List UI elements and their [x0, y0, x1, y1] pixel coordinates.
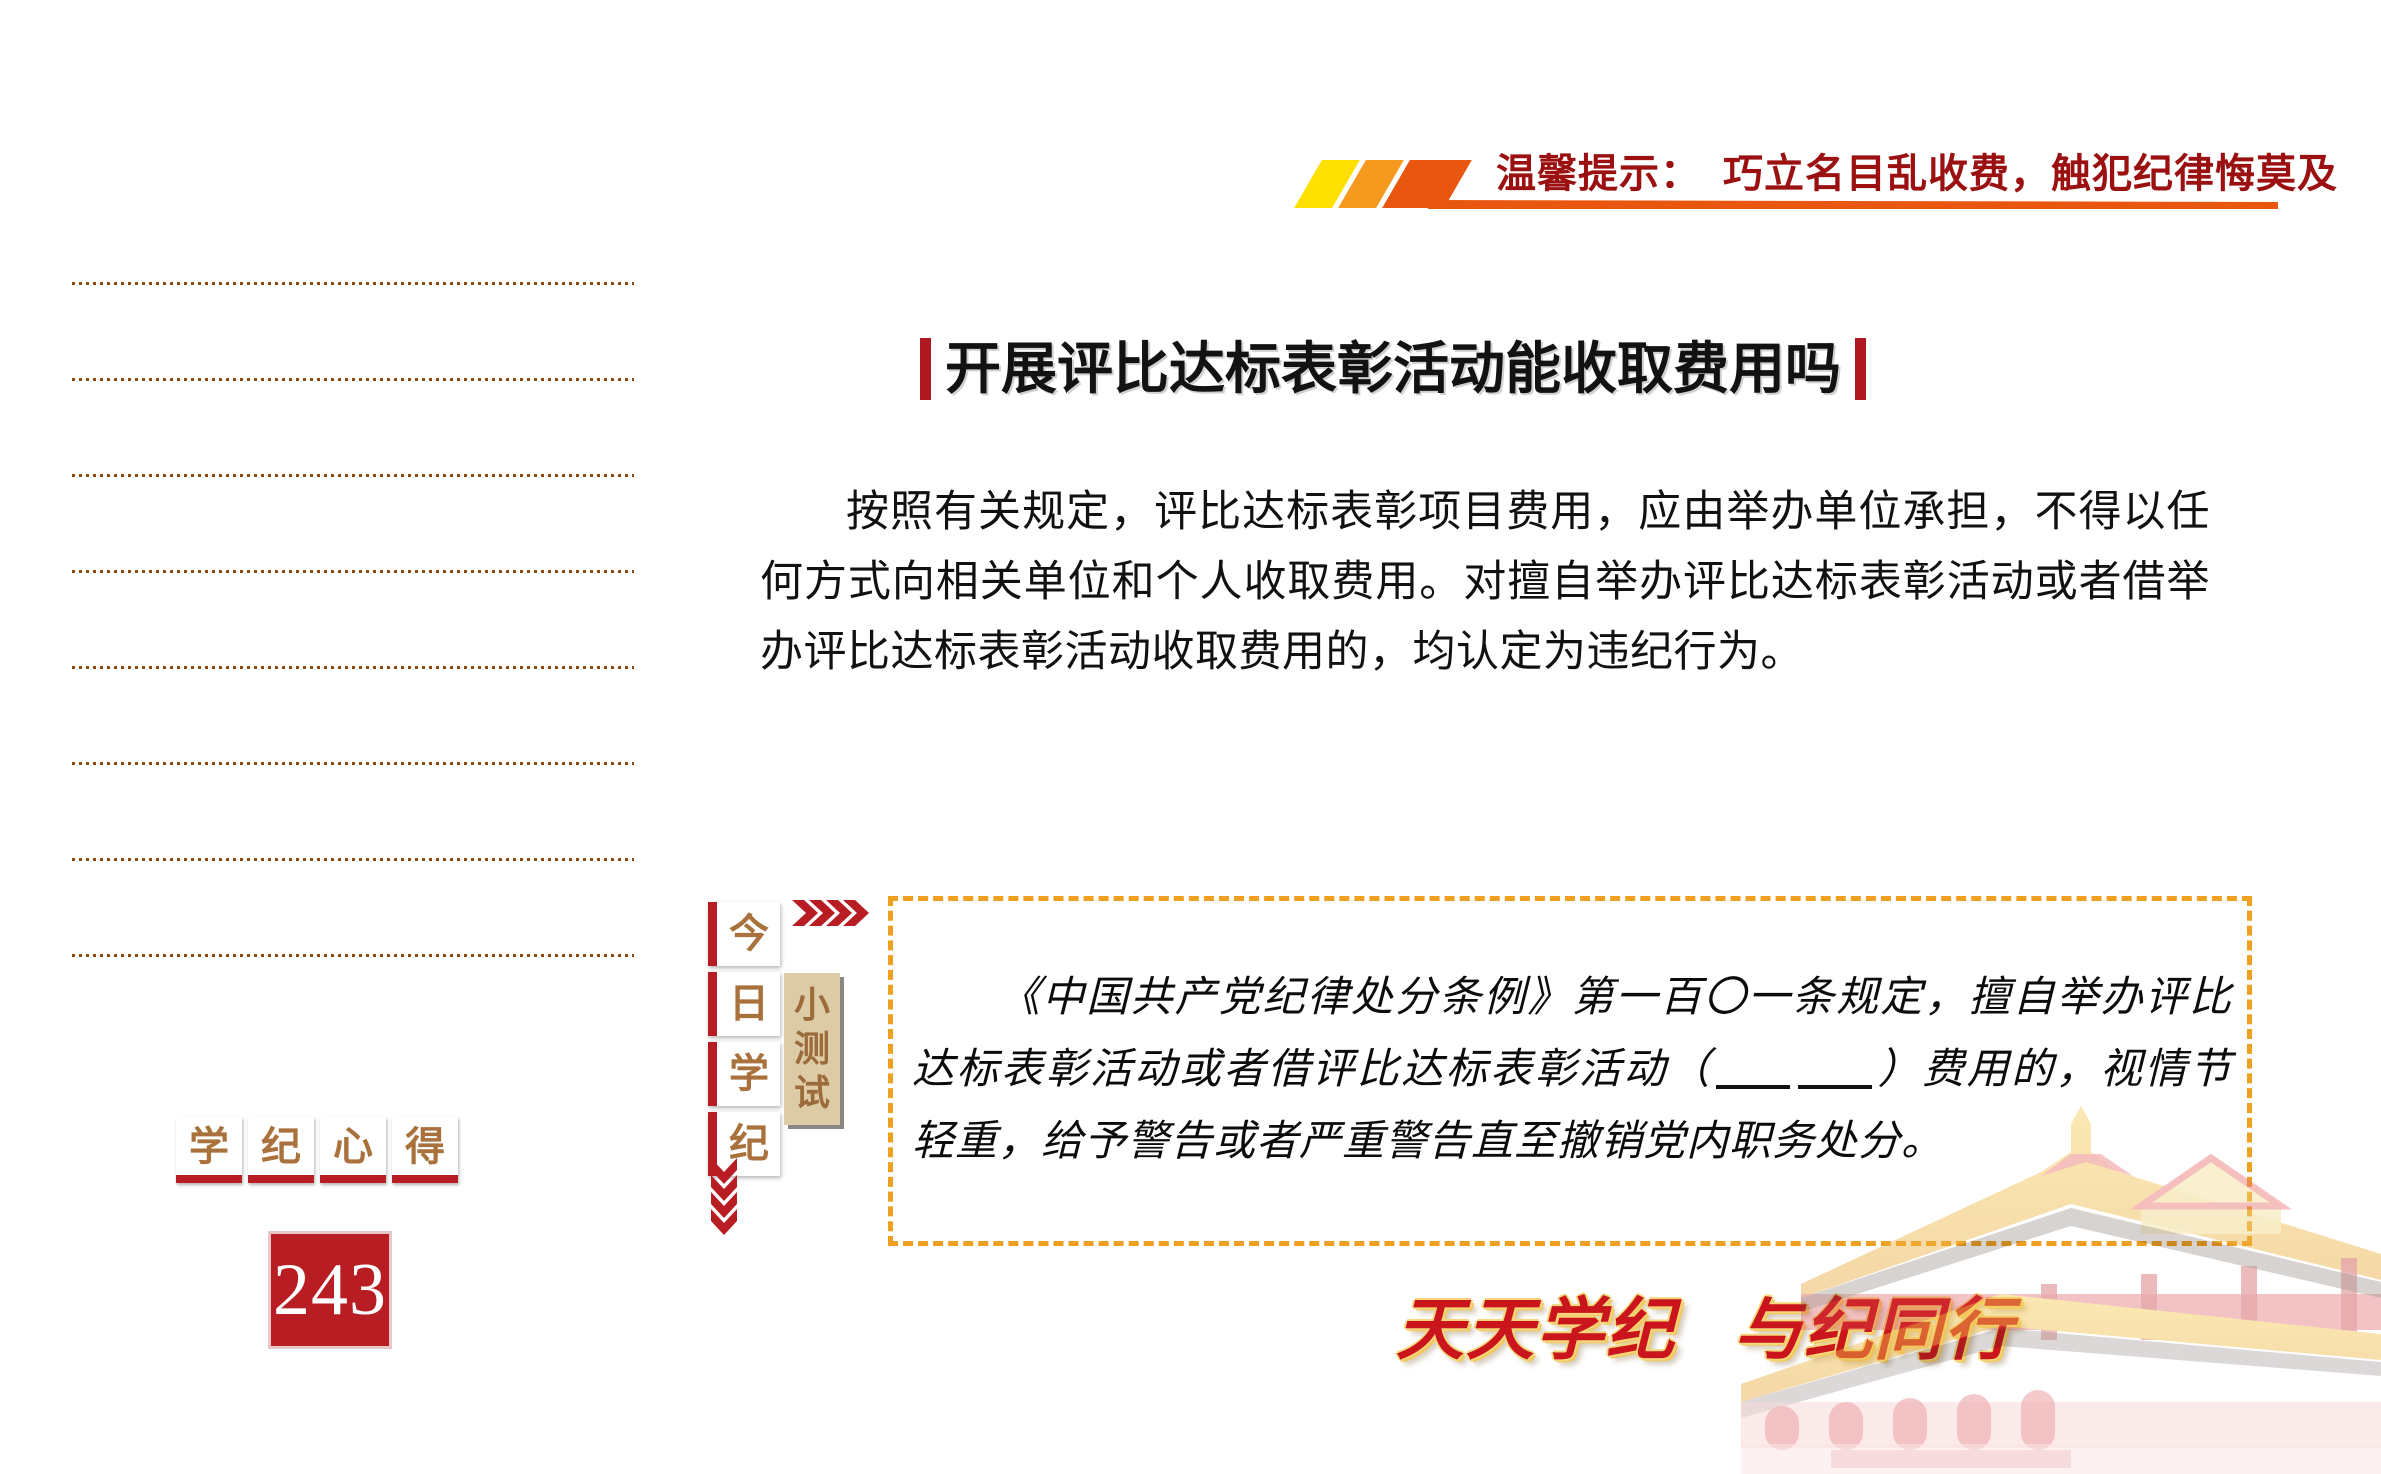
note-line [72, 474, 634, 477]
xueji-card-1: 纪 [248, 1117, 314, 1183]
page-title-text: 开展评比达标表彰活动能收取费用吗 [945, 341, 1841, 397]
slide-page: 温馨提示：巧立名目乱收费，触犯纪律悔莫及 开展评比达标表彰活动能收取费用吗 按照… [0, 0, 2381, 1474]
xueji-card-3: 得 [392, 1117, 458, 1183]
xueji-xinde-cards: 学 纪 心 得 [176, 1117, 458, 1183]
today-study-block: 今 日 学 纪 小 测 试 [700, 888, 880, 1208]
today-card-1: 日 [708, 972, 780, 1036]
today-card-2: 学 [708, 1042, 780, 1106]
quiz-tab-char-0: 小 [794, 983, 830, 1027]
today-card-0: 今 [708, 902, 780, 966]
chevron-down-icon [709, 1158, 739, 1236]
note-line [72, 282, 634, 285]
footer-slogan: 天天学纪与纪同行 [1396, 1296, 2014, 1364]
note-line [72, 378, 634, 381]
note-lines-area [72, 282, 634, 962]
tip-banner: 温馨提示：巧立名目乱收费，触犯纪律悔莫及 [1300, 148, 2310, 228]
xueji-card-0: 学 [176, 1117, 242, 1183]
footer-slogan-left: 天天学纪 [1396, 1292, 1676, 1368]
quiz-question-text: 《中国共产党纪律处分条例》第一百〇一条规定，擅自举办评比达标表彰活动或者借评比达… [912, 962, 2232, 1178]
tip-message: 巧立名目乱收费，触犯纪律悔莫及 [1723, 152, 2338, 196]
footer-slogan-right: 与纪同行 [1734, 1292, 2014, 1368]
note-line [72, 858, 634, 861]
page-number-badge: 243 [268, 1231, 392, 1349]
tip-text-line: 温馨提示：巧立名目乱收费，触犯纪律悔莫及 [1496, 148, 2338, 200]
note-line [72, 762, 634, 765]
note-line [72, 570, 634, 573]
page-title: 开展评比达标表彰活动能收取费用吗 [920, 338, 1866, 400]
title-bar-right-icon [1855, 338, 1866, 400]
quiz-blank-2[interactable] [1798, 1085, 1872, 1089]
xueji-card-2: 心 [320, 1117, 386, 1183]
quiz-tab-char-1: 测 [794, 1027, 830, 1071]
note-line [72, 954, 634, 957]
body-paragraph: 按照有关规定，评比达标表彰项目费用，应由举办单位承担，不得以任何方式向相关单位和… [760, 478, 2210, 688]
quiz-tab-char-2: 试 [794, 1071, 830, 1115]
today-study-cards: 今 日 学 纪 [708, 902, 780, 1176]
tip-rule-line [1428, 200, 2278, 209]
quiz-tab-label: 小 测 试 [784, 973, 840, 1125]
tip-label: 温馨提示： [1496, 152, 1701, 196]
quiz-blank-1[interactable] [1716, 1085, 1790, 1089]
title-bar-left-icon [920, 338, 931, 400]
chevron-right-icon [792, 898, 870, 928]
note-line [72, 666, 634, 669]
